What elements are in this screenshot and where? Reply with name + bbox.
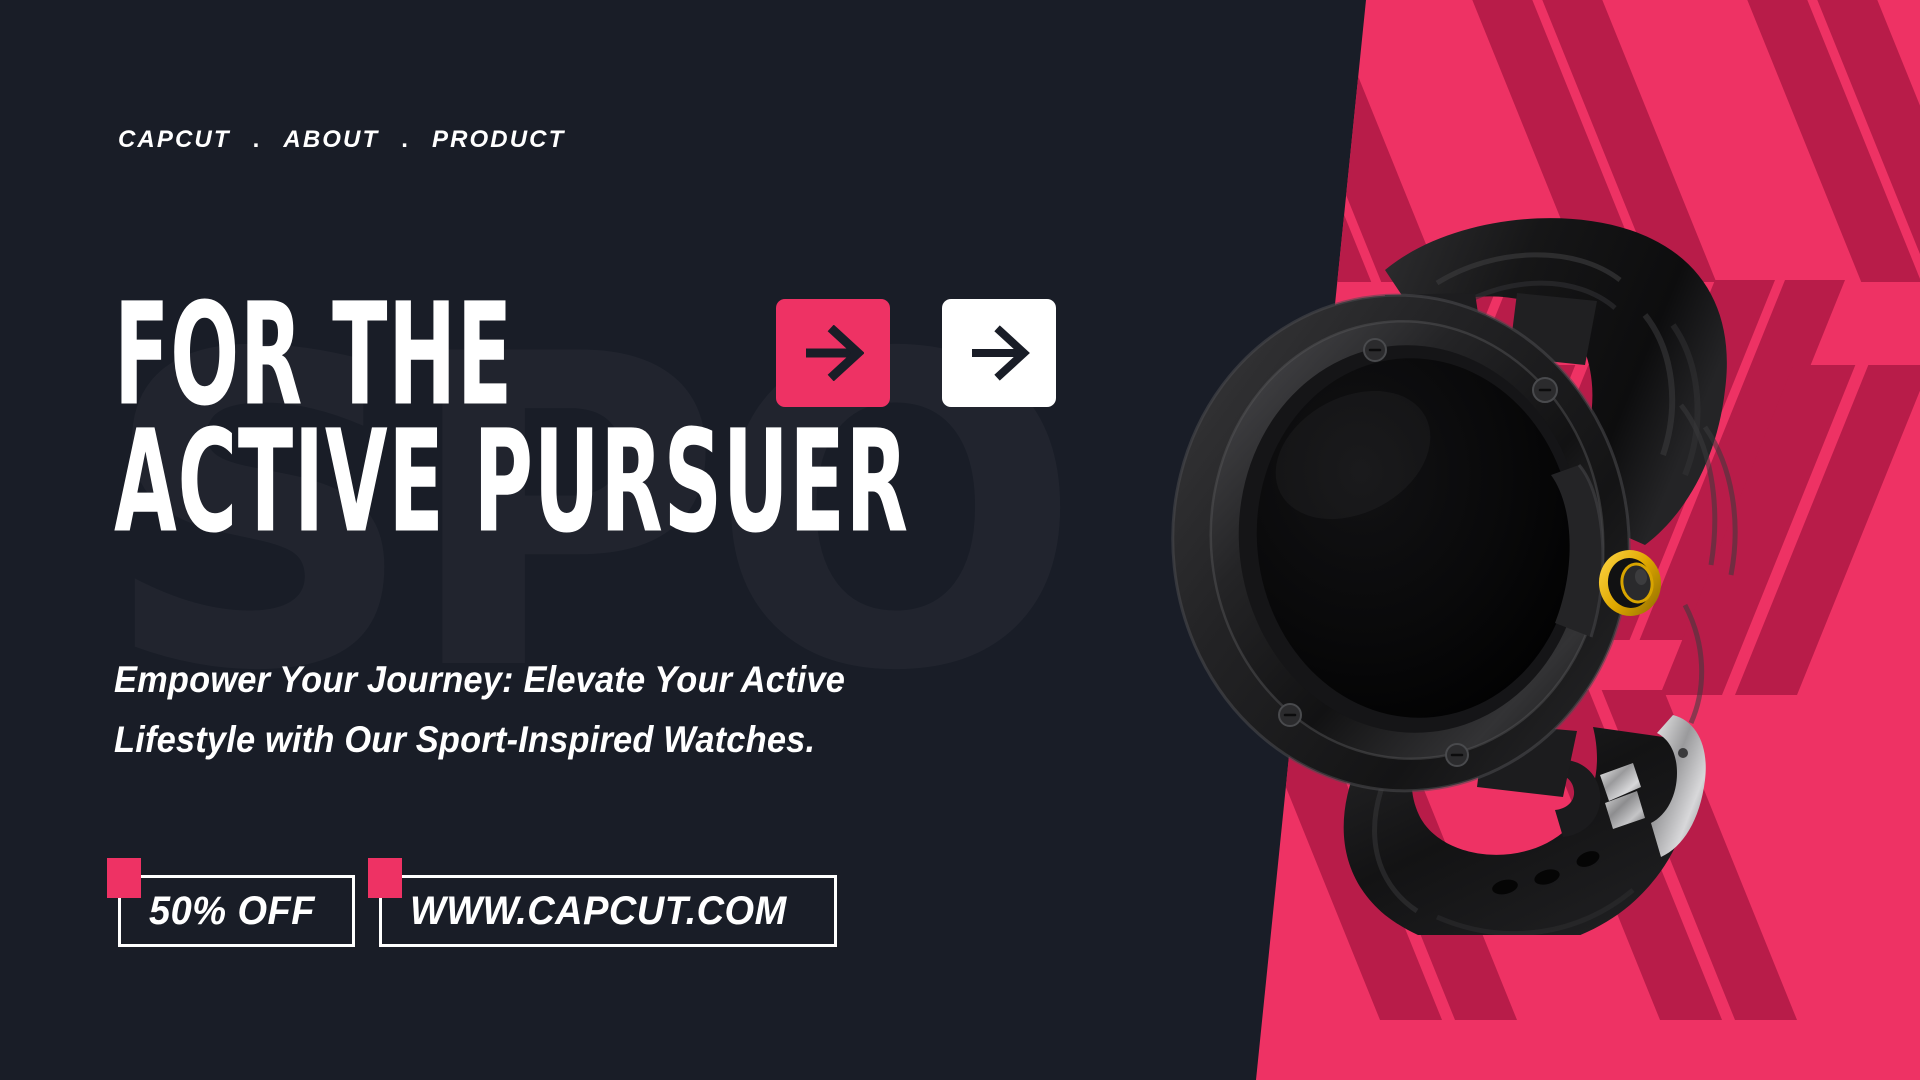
- nav-item-product[interactable]: PRODUCT: [432, 126, 565, 154]
- top-navigation: CAPCUT . ABOUT . PRODUCT: [118, 126, 565, 154]
- nav-separator: .: [379, 126, 432, 154]
- badge-corner-square: [107, 858, 141, 898]
- headline-row-1: FOR THE: [114, 300, 1249, 413]
- headline-line-2: ACTIVE PURSUER: [114, 414, 909, 551]
- badge-group: 50% OFF WWW.CAPCUT.COM: [118, 875, 837, 947]
- primary-arrow-button[interactable]: [776, 299, 890, 407]
- promo-banner: SPO: [0, 0, 1920, 1080]
- discount-badge-label: 50% OFF: [149, 889, 315, 934]
- website-badge[interactable]: WWW.CAPCUT.COM: [379, 875, 838, 947]
- product-image-smartwatch: [1085, 175, 1825, 935]
- nav-separator: .: [231, 126, 284, 154]
- arrow-button-group: [776, 299, 1056, 407]
- secondary-arrow-button[interactable]: [942, 299, 1056, 407]
- arrow-right-icon: [968, 325, 1030, 381]
- badge-corner-square: [368, 858, 402, 898]
- subtitle-text: Empower Your Journey: Elevate Your Activ…: [114, 650, 932, 770]
- headline-block: FOR THE: [114, 300, 1249, 539]
- discount-badge[interactable]: 50% OFF: [118, 875, 355, 947]
- nav-item-capcut[interactable]: CAPCUT: [118, 126, 231, 154]
- website-badge-label: WWW.CAPCUT.COM: [410, 889, 787, 934]
- nav-item-about[interactable]: ABOUT: [283, 126, 379, 154]
- arrow-right-icon: [802, 325, 864, 381]
